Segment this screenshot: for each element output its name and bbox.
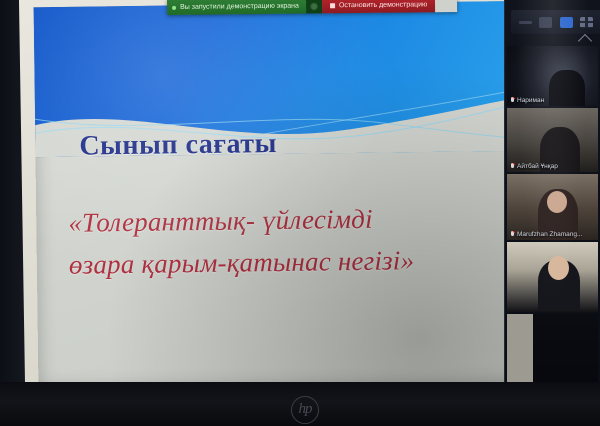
participant-name: Marufzhan Zhamang...: [517, 231, 582, 238]
pause-share-button[interactable]: [306, 0, 322, 14]
slide-title: Сынып сағаты: [79, 128, 277, 163]
slide-body-line-1: «Толеранттық- үйлесімді: [68, 197, 499, 244]
hp-logo: hp: [291, 396, 319, 424]
share-toolbar-tail: [435, 0, 457, 12]
slide-body: «Толеранттық- үйлесімді өзара қарым-қаты…: [68, 197, 499, 286]
monitor-photo: Сынып сағаты «Толеранттық- үйлесімді өза…: [0, 0, 600, 426]
view-controls-toolbar[interactable]: [511, 10, 600, 34]
participants-panel: Нариман Айтбай Ұнқар Marufzhan Zhamang..…: [504, 0, 600, 392]
shared-slide: Сынып сағаты «Толеранттық- үйлесімді өза…: [34, 1, 527, 389]
speaker-view-icon[interactable]: [539, 17, 552, 28]
slide-body-line-2: өзара қарым-қатынас негізі»: [69, 239, 500, 286]
pause-circle-icon: [310, 2, 318, 10]
share-status: Вы запустили демонстрацию экрана: [167, 0, 306, 15]
mic-muted-icon: [510, 97, 515, 104]
participant-name: Айтбай Ұнқар: [517, 163, 558, 170]
participant-name-row: Marufzhan Zhamang...: [510, 231, 582, 238]
share-status-label: Вы запустили демонстрацию экрана: [180, 3, 299, 11]
participant-silhouette: [549, 70, 585, 106]
stop-square-icon: [330, 3, 335, 8]
participant-background: [507, 314, 533, 392]
stop-share-button[interactable]: Остановить демонстрацию: [322, 0, 436, 13]
gallery-view-icon[interactable]: [560, 17, 573, 28]
participant-tile[interactable]: [507, 242, 598, 312]
minimize-icon[interactable]: [519, 21, 532, 24]
stop-share-label: Остановить демонстрацию: [339, 1, 427, 9]
mic-muted-icon: [510, 163, 515, 170]
participant-face: [548, 256, 569, 280]
participant-tile[interactable]: Нариман: [507, 46, 598, 106]
participant-name: Нариман: [517, 97, 544, 104]
participant-tile[interactable]: Marufzhan Zhamang...: [507, 174, 598, 240]
participant-name-row: Айтбай Ұнқар: [510, 163, 558, 170]
participant-tile[interactable]: [507, 314, 598, 392]
recording-dot-icon: [172, 5, 176, 9]
participant-tile[interactable]: Айтбай Ұнқар: [507, 108, 598, 172]
mic-muted-icon: [510, 231, 515, 238]
grid-view-icon[interactable]: [580, 17, 593, 28]
participant-name-row: Нариман: [510, 97, 544, 104]
